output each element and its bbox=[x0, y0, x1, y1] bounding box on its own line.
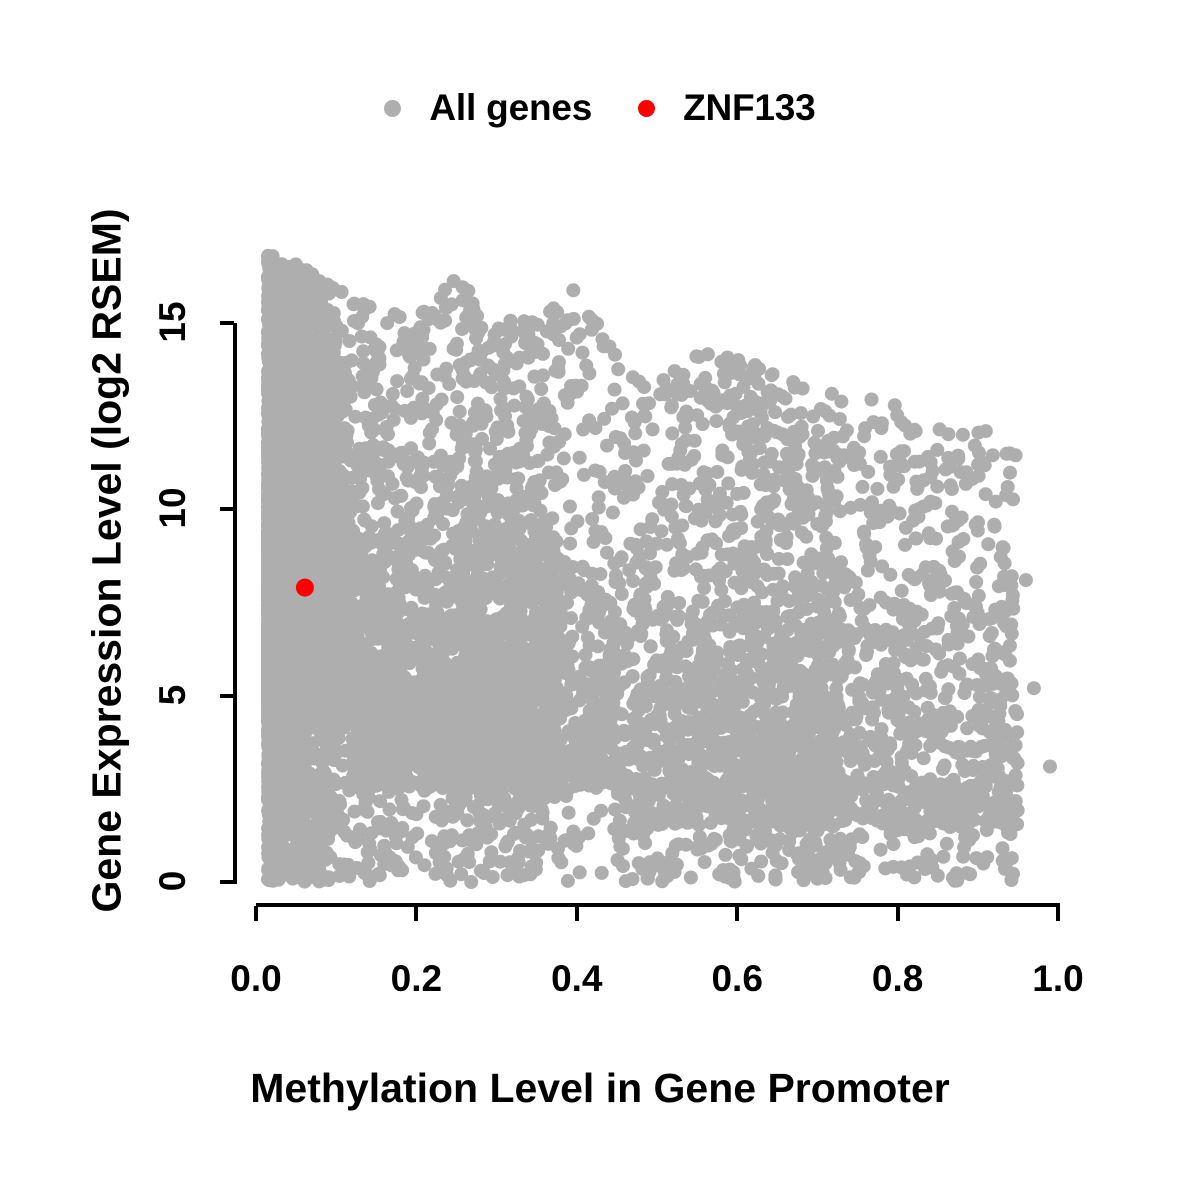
x-tick-0.0 bbox=[254, 906, 258, 921]
y-tick-5 bbox=[220, 694, 234, 698]
y-tick-15 bbox=[220, 321, 234, 325]
x-tick-0.4 bbox=[575, 906, 579, 921]
y-ticklabel-15: 15 bbox=[152, 287, 194, 357]
y-axis-title: Gene Expression Level (log2 RSEM) bbox=[84, 121, 131, 1001]
x-tick-0.6 bbox=[735, 906, 739, 921]
data-points-layer bbox=[0, 0, 1200, 1200]
y-ticklabel-10: 10 bbox=[152, 473, 194, 543]
y-axis-line bbox=[233, 323, 237, 884]
x-tick-0.8 bbox=[896, 906, 900, 921]
x-ticklabel-0.6: 0.6 bbox=[677, 958, 797, 1000]
y-tick-10 bbox=[220, 507, 234, 511]
all-genes-point-cloud bbox=[261, 249, 1057, 889]
x-ticklabel-0.8: 0.8 bbox=[838, 958, 958, 1000]
y-tick-0 bbox=[220, 880, 234, 884]
znf133-point-marker bbox=[296, 579, 314, 597]
x-axis-line bbox=[256, 903, 1060, 907]
x-ticklabel-0.4: 0.4 bbox=[517, 958, 637, 1000]
x-ticklabel-0.0: 0.0 bbox=[196, 958, 316, 1000]
x-ticklabel-1.0: 1.0 bbox=[998, 958, 1118, 1000]
plot-area: 051015 0.00.20.40.60.81.0 Gene Expressio… bbox=[0, 0, 1200, 1200]
x-ticklabel-0.2: 0.2 bbox=[356, 958, 476, 1000]
y-ticklabel-0: 0 bbox=[152, 846, 194, 916]
x-tick-0.2 bbox=[414, 906, 418, 921]
x-tick-1.0 bbox=[1056, 906, 1060, 921]
y-ticklabel-5: 5 bbox=[152, 660, 194, 730]
scatter-plot-figure: All genes ZNF133 051015 0.00.20.40.60.81… bbox=[0, 0, 1200, 1200]
x-axis-title: Methylation Level in Gene Promoter bbox=[0, 1065, 1200, 1112]
